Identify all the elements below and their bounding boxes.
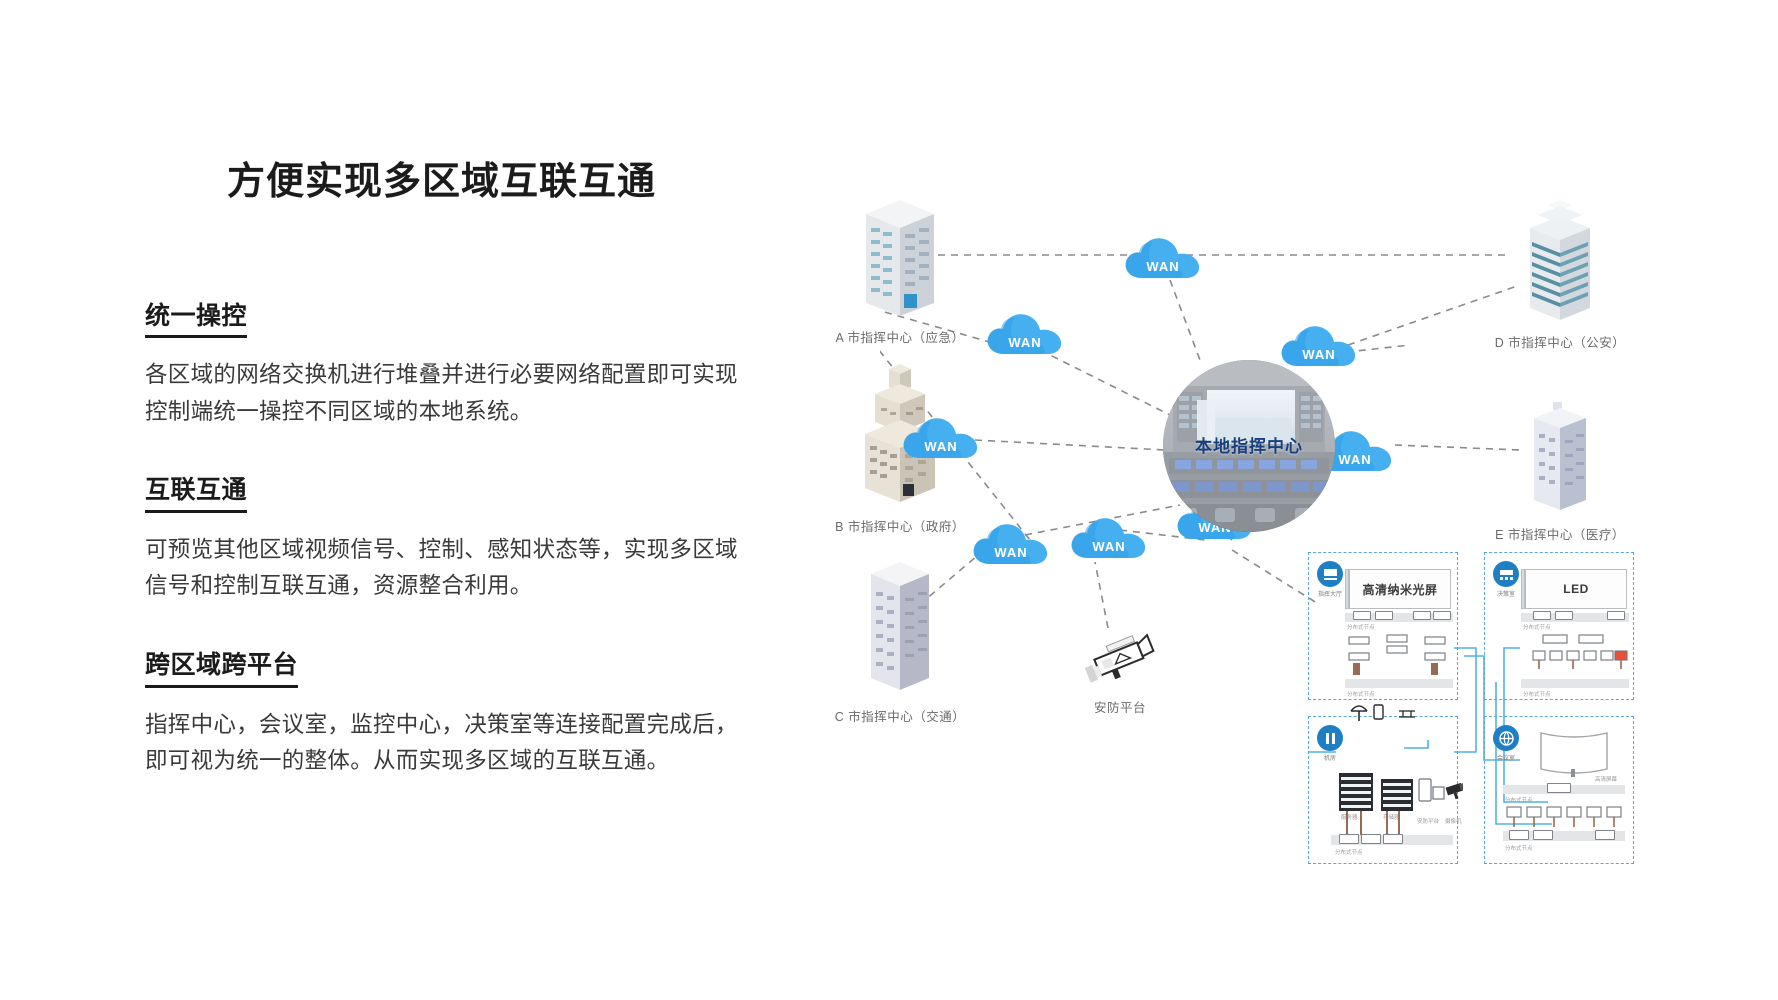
section-unified-control: 统一操控 各区域的网络交换机进行堆叠并进行必要网络配置即可实现控制端统一操控不同…: [145, 302, 835, 431]
node-a: A 市指挥中心（应急）: [800, 198, 1000, 346]
section-interconnect: 互联互通 可预览其他区域视频信号、控制、感知状态等，实现多区域信号和控制互联互通…: [145, 476, 835, 605]
building-e-icon: [1523, 400, 1597, 520]
decision-room-icon-label: 决策室: [1487, 589, 1525, 598]
central-hub: 本地指挥中心: [1163, 360, 1335, 532]
panel-command-hall: 指挥大厅 高清纳米光屏 分布式节点 分布式节点: [1308, 552, 1458, 700]
node-a-label: A 市指挥中心（应急）: [800, 327, 1000, 346]
cloud-icon: [1124, 232, 1202, 282]
panel-caption: 分布式节点: [1505, 796, 1533, 804]
node-box: [1353, 611, 1371, 620]
led-screen: LED: [1525, 569, 1627, 609]
room-panels: 指挥大厅 高清纳米光屏 分布式节点 分布式节点: [1308, 552, 1728, 912]
wan-label: WAN: [986, 335, 1064, 350]
meeting-room-icon-label: 会议室: [1487, 753, 1525, 762]
screen-side: [1345, 569, 1349, 609]
node-d: D 市指挥中心（公安）: [1460, 198, 1660, 351]
security-devices: [1417, 773, 1463, 815]
machine-room-icon-label: 机房: [1311, 753, 1349, 762]
section-body: 可预览其他区域视频信号、控制、感知状态等，实现多区域信号和控制互联互通，资源整合…: [145, 532, 745, 605]
building-a-icon: [860, 198, 940, 323]
security-platform-label: 安防平台: [1060, 697, 1180, 716]
decision-room-icon: [1493, 561, 1519, 587]
node-c: C 市指挥中心（交通）: [800, 560, 1000, 725]
screen-side: [1521, 569, 1525, 609]
cloud-icon: [902, 412, 980, 462]
panel-caption: 摄像机: [1445, 817, 1462, 825]
panel-decision-room: 决策室 LED 分布式节点: [1484, 552, 1634, 700]
panel-caption: 分布式节点: [1523, 623, 1551, 631]
wireless-devices: [1347, 695, 1467, 729]
wan-label: WAN: [972, 545, 1050, 560]
node-e-label: E 市指挥中心（医疗）: [1460, 524, 1660, 543]
security-platform: 安防平台: [1060, 630, 1180, 716]
command-hall-icon: [1317, 561, 1343, 587]
seating-and-monitors: [1519, 633, 1631, 681]
text-column: 方便实现多区域互联互通 统一操控 各区域的网络交换机进行堆叠并进行必要网络配置即…: [145, 160, 835, 802]
section-heading: 互联互通: [145, 476, 247, 513]
node-d-label: D 市指挥中心（公安）: [1460, 332, 1660, 351]
wan-label: WAN: [1124, 259, 1202, 274]
meeting-room-icon: [1493, 725, 1519, 751]
panel-caption: 分布式节点: [1505, 844, 1533, 852]
wan-label: WAN: [902, 439, 980, 454]
node-e: E 市指挥中心（医疗）: [1460, 400, 1660, 543]
building-c-icon: [861, 560, 939, 702]
node-box: [1555, 611, 1573, 620]
node-box: [1433, 611, 1451, 620]
section-body: 各区域的网络交换机进行堆叠并进行必要网络配置即可实现控制端统一操控不同区域的本地…: [145, 357, 745, 430]
floor-bar: [1345, 679, 1453, 688]
node-box: [1607, 611, 1625, 620]
node-box: [1383, 834, 1403, 844]
panel-caption: 分布式节点: [1523, 690, 1551, 698]
wan-cloud-upper-left: WAN: [986, 308, 1064, 358]
node-c-label: C 市指挥中心（交通）: [800, 706, 1000, 725]
nano-screen: 高清纳米光屏: [1349, 569, 1451, 609]
node-box: [1413, 611, 1431, 620]
command-hall-icon-label: 指挥大厅: [1311, 589, 1349, 598]
wan-cloud-lower-center: WAN: [1070, 512, 1148, 562]
node-box: [1533, 611, 1551, 620]
wan-cloud-top-center: WAN: [1124, 232, 1202, 282]
section-heading: 跨区域跨平台: [145, 651, 298, 688]
node-box: [1375, 611, 1393, 620]
node-b-label: B 市指挥中心（政府）: [800, 516, 1000, 535]
seating-rows: [1343, 633, 1455, 683]
section-heading: 统一操控: [145, 302, 247, 339]
server-rack: [1339, 773, 1373, 811]
cctv-camera-icon: [1078, 630, 1162, 688]
cloud-icon: [972, 518, 1050, 568]
building-d-icon: [1520, 198, 1600, 328]
wan-cloud-lower-left: WAN: [972, 518, 1050, 568]
cloud-icon: [986, 308, 1064, 358]
panel-caption: 分布式节点: [1347, 623, 1375, 631]
panel-meeting-room: 会议室 高清屏幕 分布式节点: [1484, 716, 1634, 864]
hub-label: 本地指挥中心: [1163, 432, 1335, 457]
curved-display: [1537, 729, 1611, 781]
panel-caption: 分布式节点: [1335, 848, 1363, 856]
floor-bar: [1521, 679, 1629, 688]
node-box: [1339, 834, 1359, 844]
node-box: [1595, 830, 1615, 840]
panel-machine-room: 机房 服务器 存储器: [1308, 716, 1458, 864]
node-box: [1547, 783, 1571, 793]
wan-label: WAN: [1070, 539, 1148, 554]
machine-room-icon: [1317, 725, 1343, 751]
wan-cloud-mid-left: WAN: [902, 412, 980, 462]
node-box: [1509, 830, 1529, 840]
network-topology-diagram: A 市指挥中心（应急）: [880, 150, 1778, 950]
cloud-icon: [1070, 512, 1148, 562]
monitor-row: [1503, 805, 1627, 831]
section-cross-region: 跨区域跨平台 指挥中心，会议室，监控中心，决策室等连接配置完成后，即可视为统一的…: [145, 651, 835, 780]
storage-rack: [1381, 779, 1413, 811]
section-body: 指挥中心，会议室，监控中心，决策室等连接配置完成后，即可视为统一的整体。从而实现…: [145, 707, 745, 780]
node-box: [1361, 834, 1381, 844]
node-box: [1533, 830, 1553, 840]
panel-caption: 高清屏幕: [1595, 775, 1617, 783]
page-title: 方便实现多区域互联互通: [227, 160, 835, 206]
